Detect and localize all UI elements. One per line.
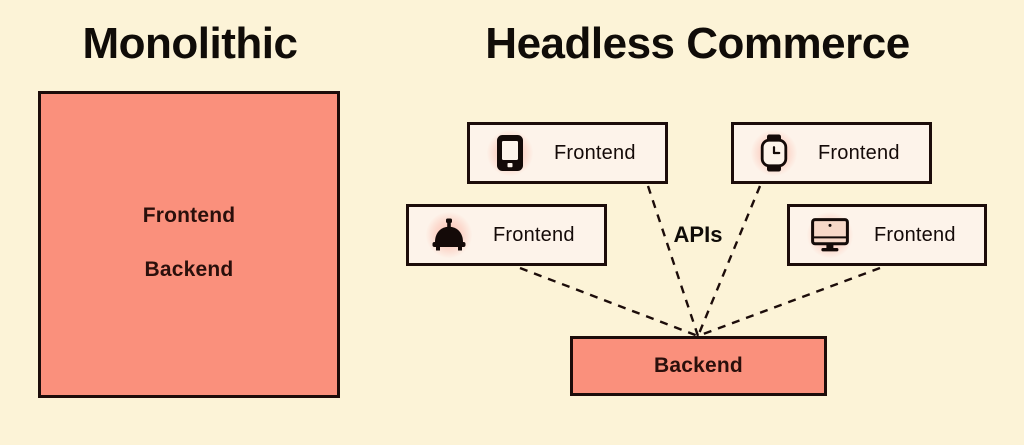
frontend-card-service-bell[interactable]: Frontend [406,204,607,266]
monolithic-backend-label: Backend [41,258,337,282]
frontend-card-label: Frontend [493,224,575,247]
apis-label: APIs [655,222,741,248]
connector-mobile-phone [648,186,698,336]
mobile-phone-icon [488,131,532,175]
frontend-card-label: Frontend [818,142,900,165]
connector-smartwatch [698,186,760,336]
diagram-canvas: Monolithic Headless Commerce Frontend Ba… [0,0,1024,445]
monolithic-title: Monolithic [0,22,380,66]
frontend-card-mobile-phone[interactable]: Frontend [467,122,668,184]
smartwatch-icon [752,131,796,175]
frontend-card-label: Frontend [874,224,956,247]
monolithic-block: Frontend Backend [38,91,340,398]
frontend-card-smartwatch[interactable]: Frontend [731,122,932,184]
headless-commerce-title: Headless Commerce [425,22,970,66]
headless-backend-block: Backend [570,336,827,396]
frontend-card-label: Frontend [554,142,636,165]
desktop-monitor-icon [808,213,852,257]
service-bell-icon [427,213,471,257]
connector-service-bell [520,268,698,336]
connector-desktop [698,268,880,336]
monolithic-frontend-label: Frontend [41,204,337,228]
frontend-card-desktop-monitor[interactable]: Frontend [787,204,987,266]
backend-label: Backend [654,354,743,378]
